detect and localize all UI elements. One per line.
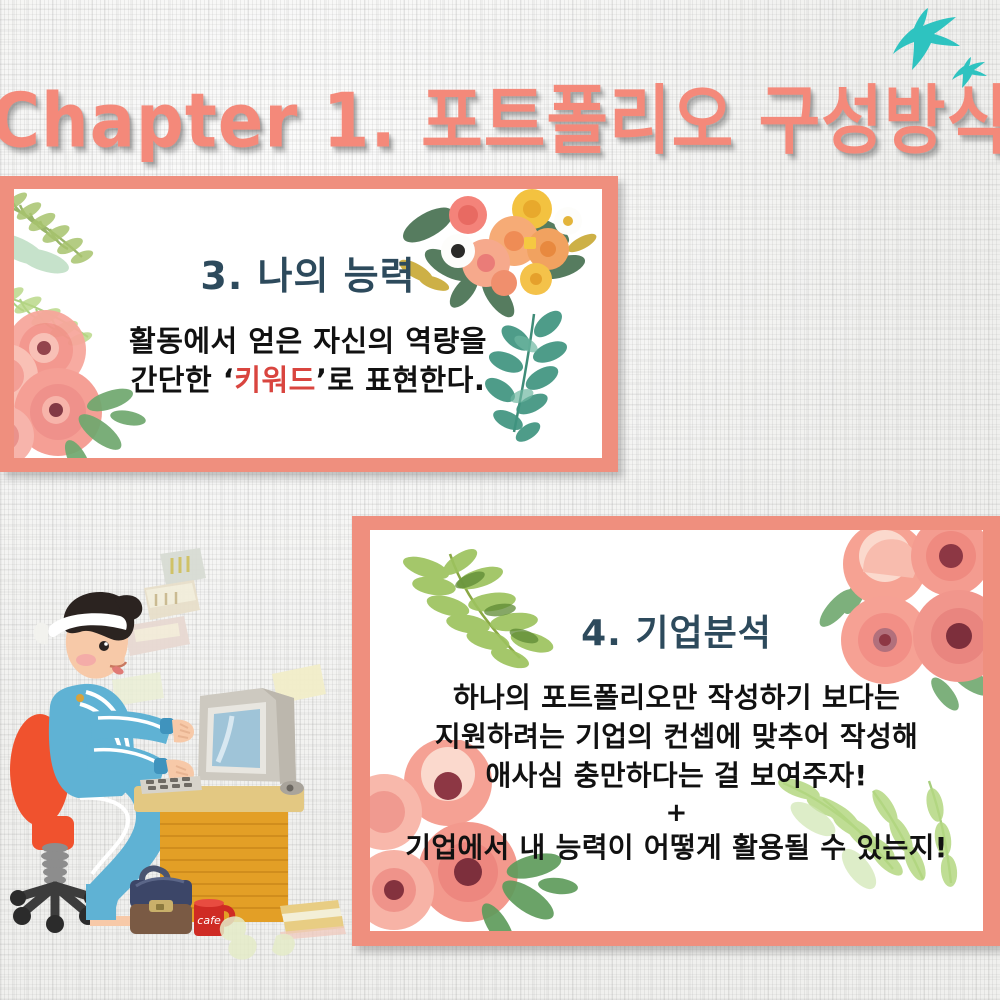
card-company-analysis-body: 4. 기업분석 하나의 포트폴리오만 작성하기 보다는 지원하려는 기업의 컨셉… <box>370 604 983 867</box>
head <box>34 592 143 679</box>
card-company-analysis-text: 하나의 포트폴리오만 작성하기 보다는 지원하려는 기업의 컨셉에 맞추어 작성… <box>370 678 983 867</box>
card-my-ability-heading: 3. 나의 능력 <box>14 245 602 300</box>
man-at-computer-illustration: cafe <box>0 548 364 968</box>
card-company-analysis-inner: 4. 기업분석 하나의 포트폴리오만 작성하기 보다는 지원하려는 기업의 컨셉… <box>370 530 983 931</box>
slide-canvas: Chapter 1. 포트폴리오 구성방식 <box>0 0 1000 1000</box>
page-title-container: Chapter 1. 포트폴리오 구성방식 <box>0 62 1000 167</box>
card1-line-2-prefix: 간단한 ‘ <box>131 363 235 397</box>
keyword-highlight: 키워드 <box>234 363 316 397</box>
flying-papers <box>112 548 326 706</box>
card-my-ability-inner: 3. 나의 능력 활동에서 얻은 자신의 역량을 간단한 ‘키워드’로 표현한다… <box>14 189 602 458</box>
sandwich <box>280 900 346 940</box>
card2-plus-sign: + <box>370 800 983 826</box>
card2-line-5: 기업에서 내 능력이 어떻게 활용될 수 있는지! <box>405 831 947 864</box>
page-title: Chapter 1. 포트폴리오 구성방식 <box>0 60 1000 169</box>
card1-line-1: 활동에서 얻은 자신의 역량을 <box>129 324 487 358</box>
card2-line-3: 애사심 충만하다는 걸 보여주자! <box>486 759 868 792</box>
crt-monitor <box>198 688 304 795</box>
card-my-ability-body: 3. 나의 능력 활동에서 얻은 자신의 역량을 간단한 ‘키워드’로 표현한다… <box>14 245 602 400</box>
card2-line-2: 지원하려는 기업의 컨셉에 맞추어 작성해 <box>435 720 918 753</box>
crumpled-papers <box>220 916 295 959</box>
coffee-cup-label: cafe <box>197 914 221 927</box>
card-my-ability: 3. 나의 능력 활동에서 얻은 자신의 역량을 간단한 ‘키워드’로 표현한다… <box>0 176 618 472</box>
card-company-analysis-heading: 4. 기업분석 <box>370 604 983 656</box>
card-my-ability-text: 활동에서 얻은 자신의 역량을 간단한 ‘키워드’로 표현한다. <box>14 322 602 400</box>
card2-line-1: 하나의 포트폴리오만 작성하기 보다는 <box>453 681 900 714</box>
card-company-analysis: 4. 기업분석 하나의 포트폴리오만 작성하기 보다는 지원하려는 기업의 컨셉… <box>352 516 1000 946</box>
card1-line-2-suffix: ’로 표현한다. <box>316 363 486 397</box>
